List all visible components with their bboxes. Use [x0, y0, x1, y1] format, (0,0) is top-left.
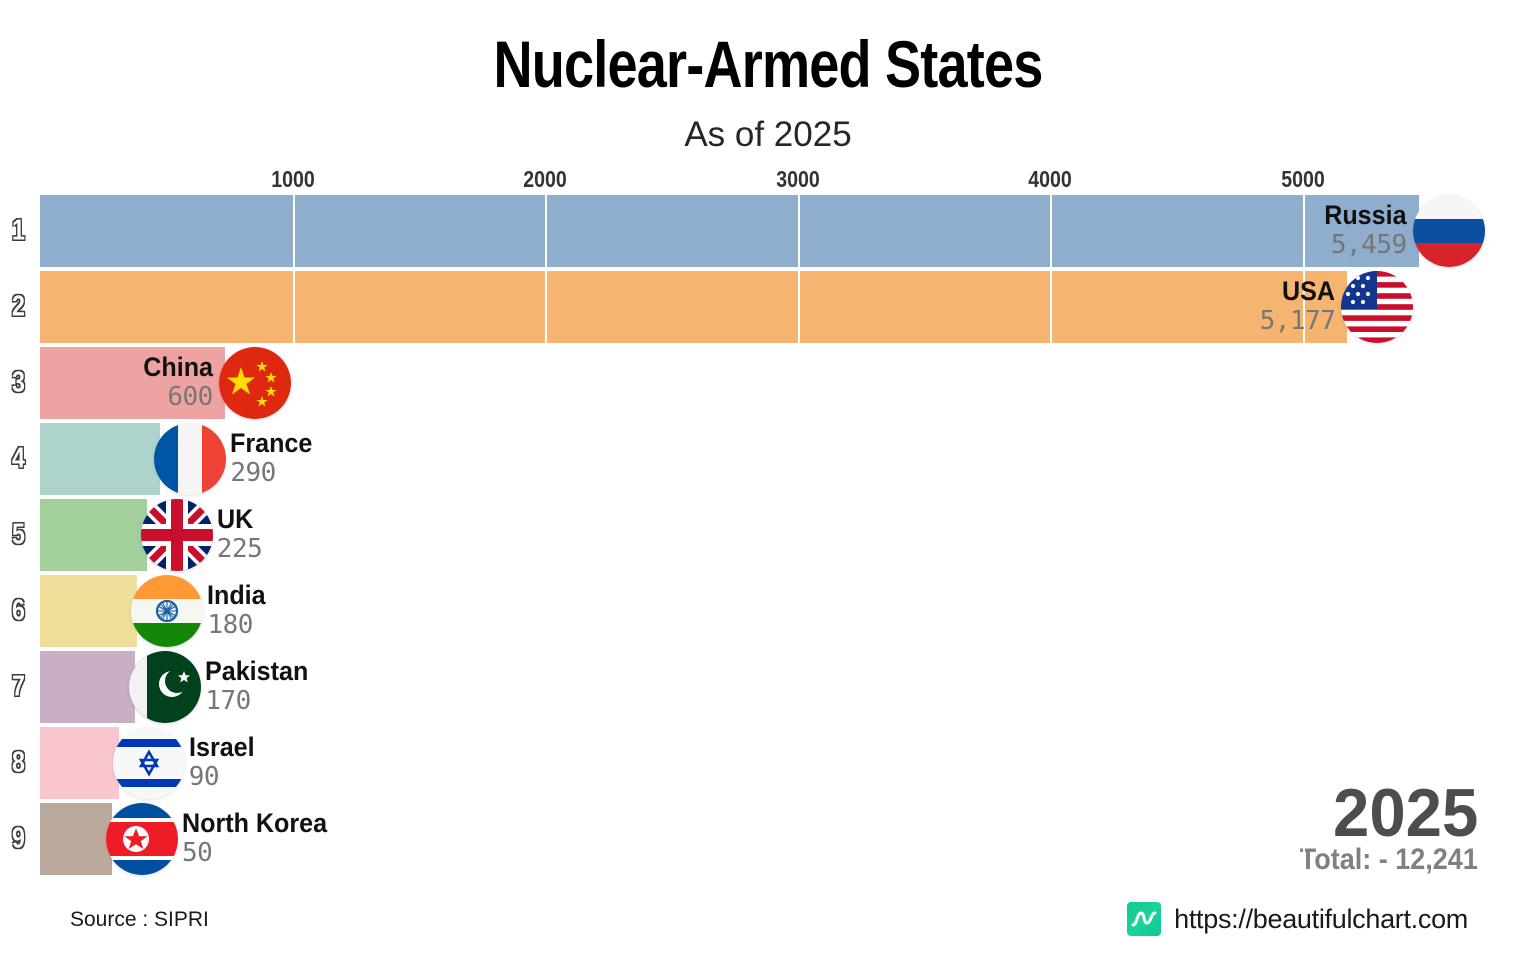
- rank-number: 8: [12, 747, 25, 780]
- flag-pakistan-icon: [129, 651, 201, 723]
- rank-number: 7: [12, 671, 25, 704]
- flag-france-icon: [154, 423, 226, 495]
- rank-number: 6: [12, 595, 25, 628]
- bar-value-label: 90: [189, 762, 219, 793]
- bar-value-label: 225: [217, 534, 262, 565]
- axis-tick-label: 1000: [271, 166, 314, 193]
- year-counter: 2025: [1333, 778, 1478, 848]
- bar-label-group: USA5,177: [40, 271, 1335, 343]
- watermark-url-label: https://beautifulchart.com: [1174, 904, 1468, 935]
- bar-value-label: 170: [205, 686, 250, 717]
- source-note: Source : SIPRI: [70, 908, 209, 932]
- axis-tick-label: 5000: [1281, 166, 1324, 193]
- country-name-label: France: [230, 429, 312, 458]
- country-name-label: Russia: [1324, 201, 1406, 230]
- country-name-label: North Korea: [182, 809, 327, 838]
- bar-label-group: Israel90: [189, 727, 509, 799]
- bar-row[interactable]: 3China600: [0, 347, 1536, 419]
- bar-france[interactable]: [40, 423, 160, 495]
- rank-number: 4: [12, 443, 25, 476]
- rank-number: 9: [12, 823, 25, 856]
- chart-subtitle: As of 2025: [0, 114, 1536, 156]
- bar-value-label: 5,459: [1331, 230, 1407, 261]
- country-name-label: USA: [1282, 277, 1335, 306]
- flag-india-icon: [131, 575, 203, 647]
- bar-israel[interactable]: [40, 727, 119, 799]
- bar-row[interactable]: 6India180: [0, 575, 1536, 647]
- bar-uk[interactable]: [40, 499, 147, 571]
- bar-row[interactable]: 8Israel90: [0, 727, 1536, 799]
- bar-label-group: China600: [40, 347, 213, 419]
- bar-label-group: France290: [230, 423, 550, 495]
- total-counter: Total: - 12,241: [1300, 843, 1478, 877]
- rank-number: 3: [12, 367, 25, 400]
- bar-row[interactable]: 5UK225: [0, 499, 1536, 571]
- bar-label-group: North Korea50: [182, 803, 502, 875]
- bar-value-label: 290: [230, 458, 275, 489]
- bar-pakistan[interactable]: [40, 651, 135, 723]
- flag-russia-icon: [1413, 195, 1485, 267]
- flag-uk-icon: [141, 499, 213, 571]
- axis-tick-label: 2000: [523, 166, 566, 193]
- bar-row[interactable]: 1Russia5,459: [0, 195, 1536, 267]
- country-name-label: India: [207, 581, 266, 610]
- bar-label-group: Pakistan170: [205, 651, 525, 723]
- flag-usa-icon: [1341, 271, 1413, 343]
- page-title: Nuclear-Armed States: [138, 28, 1398, 100]
- rank-number: 1: [12, 215, 25, 248]
- bar-india[interactable]: [40, 575, 137, 647]
- bar-row[interactable]: 4France290: [0, 423, 1536, 495]
- country-name-label: Pakistan: [205, 657, 308, 686]
- rank-number: 5: [12, 519, 25, 552]
- bar-value-label: 600: [167, 382, 212, 413]
- bar-label-group: Russia5,459: [40, 195, 1407, 267]
- bar-label-group: UK225: [217, 499, 537, 571]
- axis-tick-label: 3000: [776, 166, 819, 193]
- watermark[interactable]: https://beautifulchart.com: [1127, 902, 1468, 936]
- country-name-label: Israel: [189, 733, 255, 762]
- flag-china-icon: [219, 347, 291, 419]
- bar-value-label: 50: [182, 838, 212, 869]
- bar-row[interactable]: 2USA5,177: [0, 271, 1536, 343]
- bar-row[interactable]: 7Pakistan170: [0, 651, 1536, 723]
- bar-label-group: India180: [207, 575, 527, 647]
- bar-north-korea[interactable]: [40, 803, 112, 875]
- flag-israel-icon: [113, 727, 185, 799]
- axis-tick-label: 4000: [1028, 166, 1071, 193]
- country-name-label: UK: [217, 505, 253, 534]
- rank-number: 2: [12, 291, 25, 324]
- flag-northkorea-icon: [106, 803, 178, 875]
- country-name-label: China: [143, 353, 213, 382]
- bar-value-label: 5,177: [1260, 306, 1336, 337]
- wave-line-logo-icon: [1127, 902, 1161, 936]
- bar-value-label: 180: [207, 610, 252, 641]
- bar-chart-plot-area: 100020003000400050001Russia5,4592USA5,17…: [0, 160, 1536, 880]
